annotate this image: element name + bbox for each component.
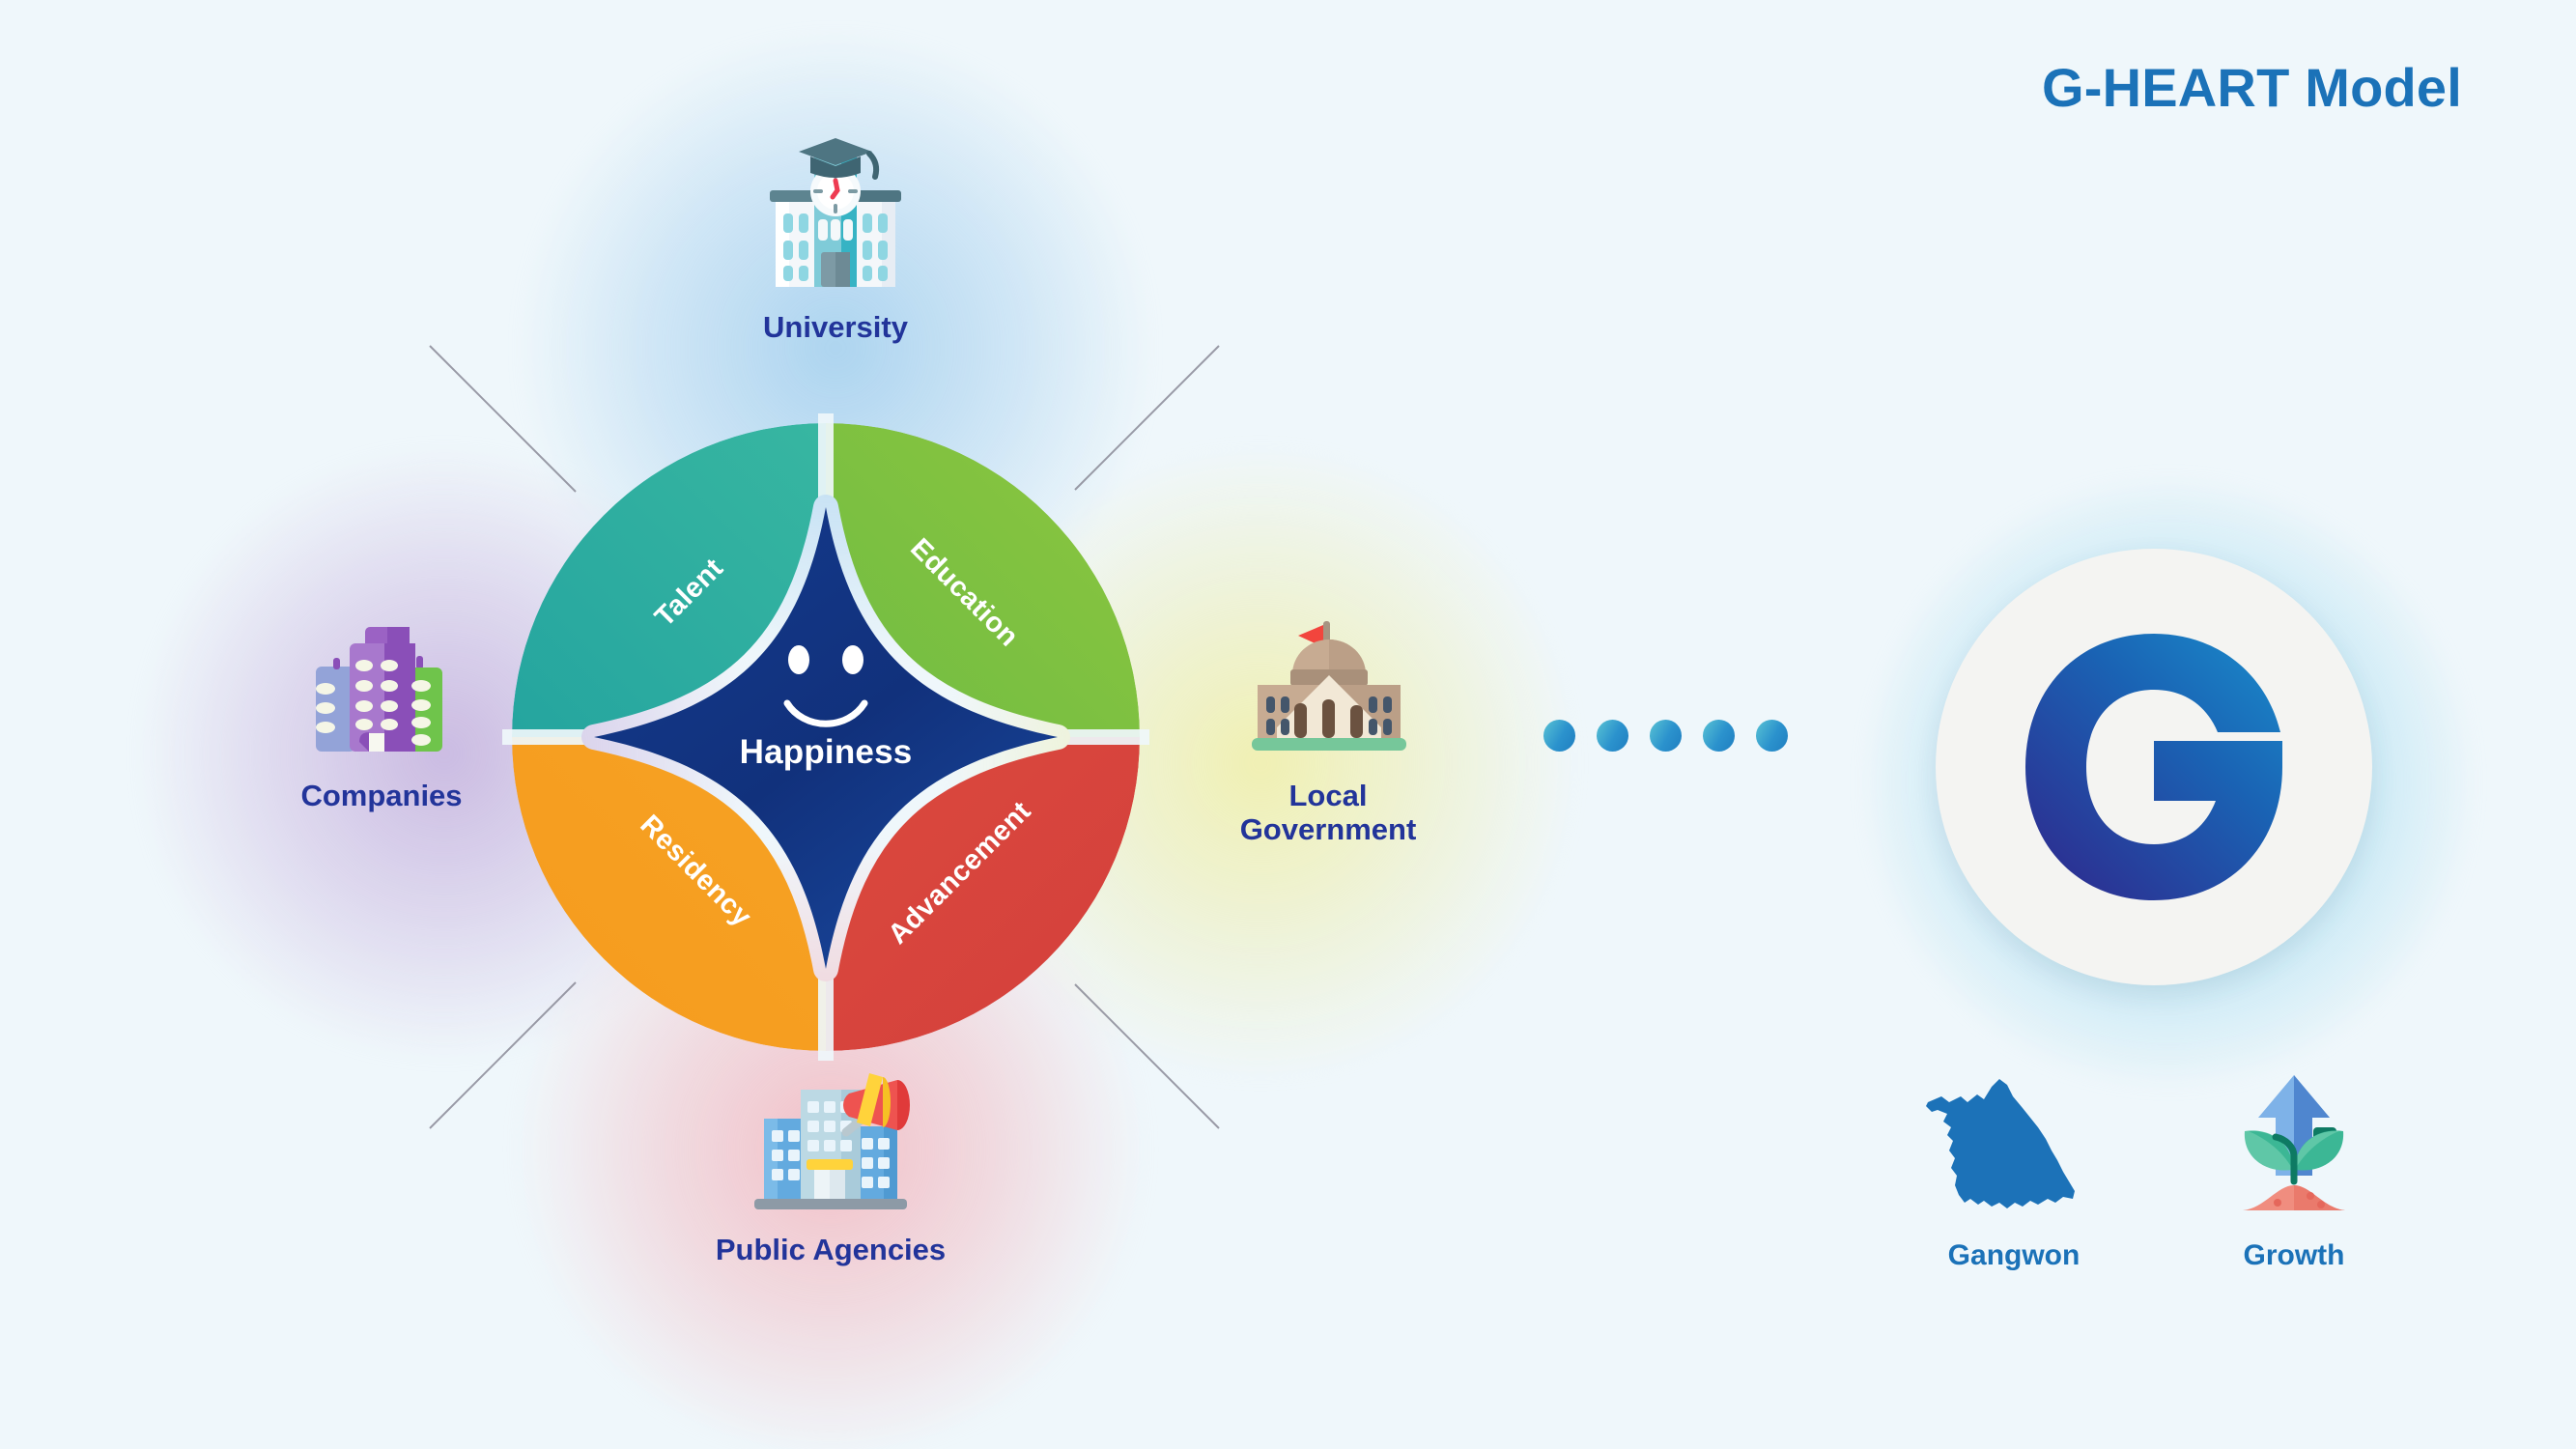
node-companies[interactable]: Companies [256, 613, 507, 813]
node-local-government[interactable]: Local Government [1193, 604, 1463, 846]
gangwon-province-map-icon [1922, 1058, 2106, 1222]
node-label-university: University [763, 311, 908, 345]
node-label-companies: Companies [300, 780, 462, 813]
diagram-canvas: G-HEART Model [0, 0, 2576, 1449]
connector-dot [1597, 720, 1628, 752]
node-university[interactable]: University [710, 130, 961, 345]
brand-label-gangwon: Gangwon [1948, 1239, 2081, 1272]
buildings-megaphone-icon [737, 1063, 925, 1222]
office-buildings-icon [299, 613, 464, 768]
node-public-agencies[interactable]: Public Agencies [686, 1063, 976, 1267]
gheart-wheel: Happiness Talent Education Advancement R… [512, 423, 1140, 1051]
connector-dot [1543, 720, 1575, 752]
gangwon-logo-circle[interactable] [1936, 549, 2372, 985]
university-building-icon [749, 130, 922, 299]
connector-dot [1756, 720, 1788, 752]
node-label-local-government: Local Government [1240, 780, 1417, 846]
brand-item-gangwon[interactable]: Gangwon [1917, 1058, 2110, 1272]
happiness-label: Happiness [740, 733, 913, 771]
brand-pair: Gangwon [1917, 1058, 2391, 1272]
brand-label-growth: Growth [2244, 1239, 2345, 1272]
g-letter-logo [2009, 622, 2299, 912]
connector-dot [1703, 720, 1735, 752]
sprout-arrow-growth-icon [2222, 1058, 2366, 1222]
dotted-connector [1543, 720, 1788, 752]
connector-dot [1650, 720, 1682, 752]
capitol-building-icon [1234, 604, 1423, 768]
page-title: G-HEART Model [2042, 56, 2462, 119]
node-label-public-agencies: Public Agencies [716, 1234, 946, 1267]
brand-item-growth[interactable]: Growth [2197, 1058, 2391, 1272]
